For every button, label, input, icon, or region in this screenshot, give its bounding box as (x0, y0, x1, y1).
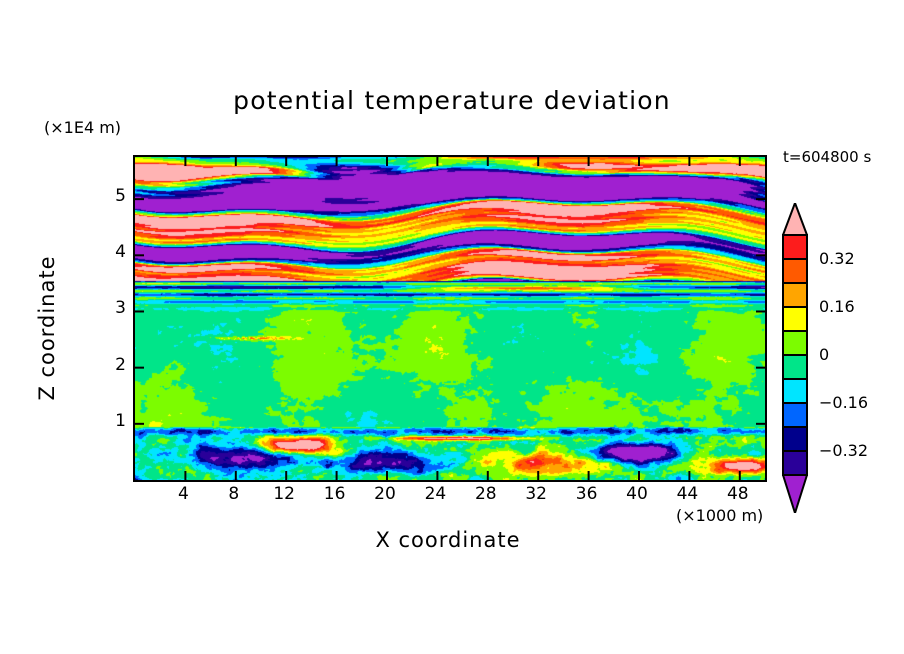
x-tick-label: 24 (415, 484, 455, 504)
x-tick-label: 20 (365, 484, 405, 504)
chart-root: potential temperature deviation (×1E4 m)… (0, 0, 904, 654)
y-tick-label: 4 (96, 242, 126, 262)
x-tick-label: 16 (315, 484, 355, 504)
x-tick-label: 32 (516, 484, 556, 504)
colorbar-tick-label: 0.16 (819, 297, 855, 316)
y-tick-label: 2 (96, 355, 126, 375)
x-tick-label: 8 (214, 484, 254, 504)
plot-area (133, 155, 767, 482)
y-tick-label: 1 (96, 411, 126, 431)
x-tick-label: 40 (617, 484, 657, 504)
x-tick-label: 28 (466, 484, 506, 504)
y-tick-label: 5 (96, 186, 126, 206)
x-axis-unit-label: (×1000 m) (676, 506, 763, 525)
y-tick-label: 3 (96, 298, 126, 318)
x-tick-label: 44 (667, 484, 707, 504)
timestamp-annotation: t=604800 s (783, 148, 871, 166)
x-tick-label: 36 (567, 484, 607, 504)
x-axis-title: X coordinate (133, 528, 763, 552)
tick-marks (135, 157, 765, 480)
page-title: potential temperature deviation (0, 86, 904, 115)
colorbar-tick-label: −0.16 (819, 393, 868, 412)
colorbar-tick-label: −0.32 (819, 441, 868, 460)
colorbar-tick-label: 0.32 (819, 249, 855, 268)
y-axis-title: Z coordinate (35, 218, 59, 438)
colorbar (779, 203, 821, 513)
colorbar-tick-label: 0 (819, 345, 829, 364)
x-tick-label: 12 (264, 484, 304, 504)
x-tick-label: 4 (163, 484, 203, 504)
z-axis-unit-label: (×1E4 m) (44, 118, 121, 137)
x-tick-label: 48 (718, 484, 758, 504)
